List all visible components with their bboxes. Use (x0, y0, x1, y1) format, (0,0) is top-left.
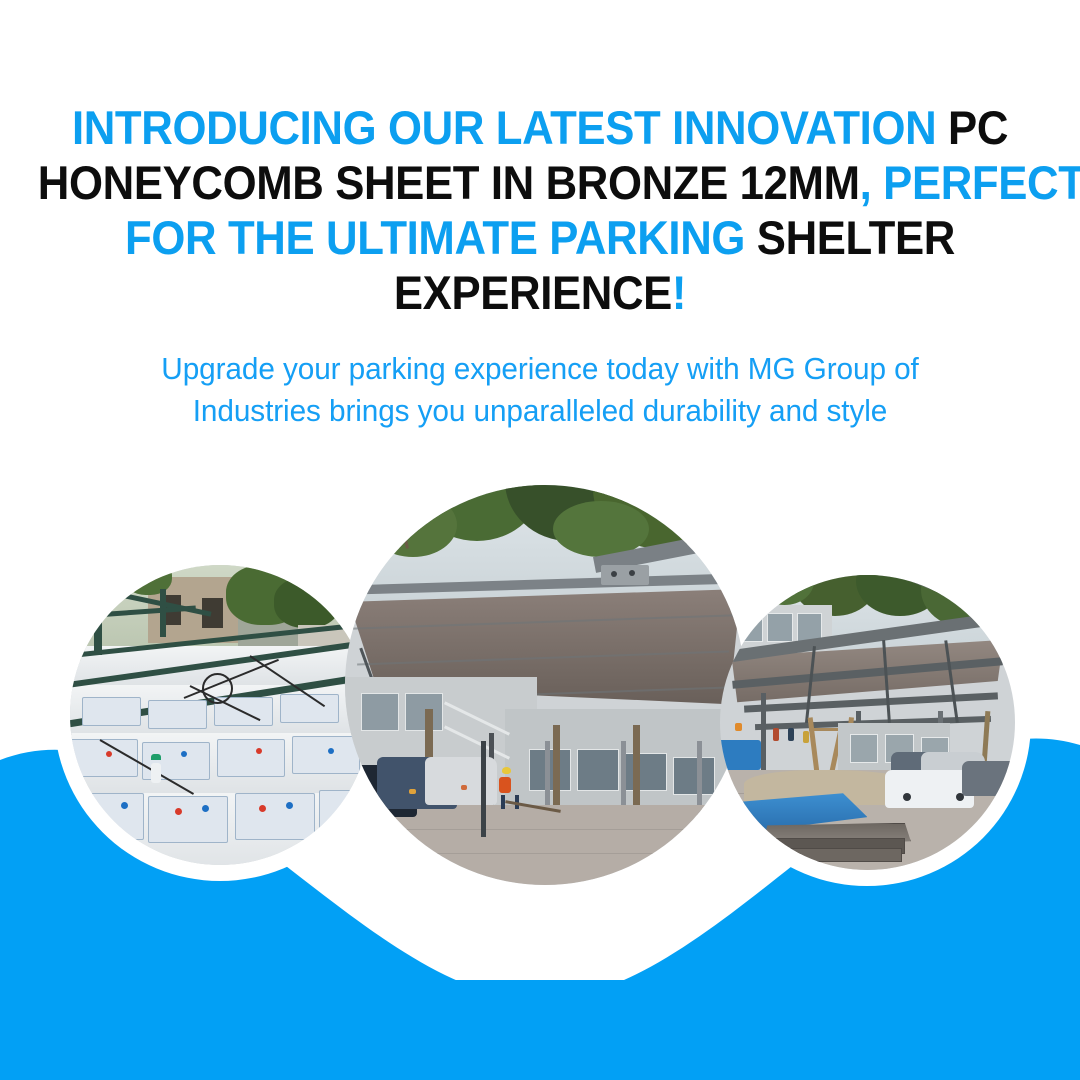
headline: INTRODUCING OUR LATEST INNOVATION PC HON… (38, 100, 1042, 320)
headline-line-4-blue: ! (672, 266, 686, 319)
headline-line-2-blue: , PERFECT (860, 156, 1080, 209)
photo-honeycomb-sheets-on-steel-frame (70, 565, 370, 865)
headline-line-3-black: SHELTER (745, 211, 955, 264)
headline-line-3-blue: FOR THE ULTIMATE PARKING (125, 211, 745, 264)
headline-line-4: EXPERIENCE! (38, 265, 1042, 320)
photo-construction-site-steel-structure (720, 575, 1015, 870)
subtitle: Upgrade your parking experience today wi… (22, 348, 1059, 432)
subtitle-line-2: Industries brings you unparalleled durab… (22, 390, 1059, 432)
subtitle-line-1: Upgrade your parking experience today wi… (22, 348, 1059, 390)
headline-line-1: INTRODUCING OUR LATEST INNOVATION PC (38, 100, 1042, 155)
headline-line-2: HONEYCOMB SHEET IN BRONZE 12MM, PERFECT (38, 155, 1042, 210)
headline-line-1-blue: INTRODUCING OUR LATEST INNOVATION (72, 101, 936, 154)
headline-line-1-black: PC (936, 101, 1008, 154)
headline-line-2-black: HONEYCOMB SHEET IN BRONZE 12MM (38, 156, 860, 209)
headline-line-3: FOR THE ULTIMATE PARKING SHELTER (38, 210, 1042, 265)
headline-line-4-black: EXPERIENCE (394, 266, 672, 319)
photo-completed-parking-shelter-underside (345, 485, 745, 885)
poster-canvas: INTRODUCING OUR LATEST INNOVATION PC HON… (0, 0, 1080, 1080)
